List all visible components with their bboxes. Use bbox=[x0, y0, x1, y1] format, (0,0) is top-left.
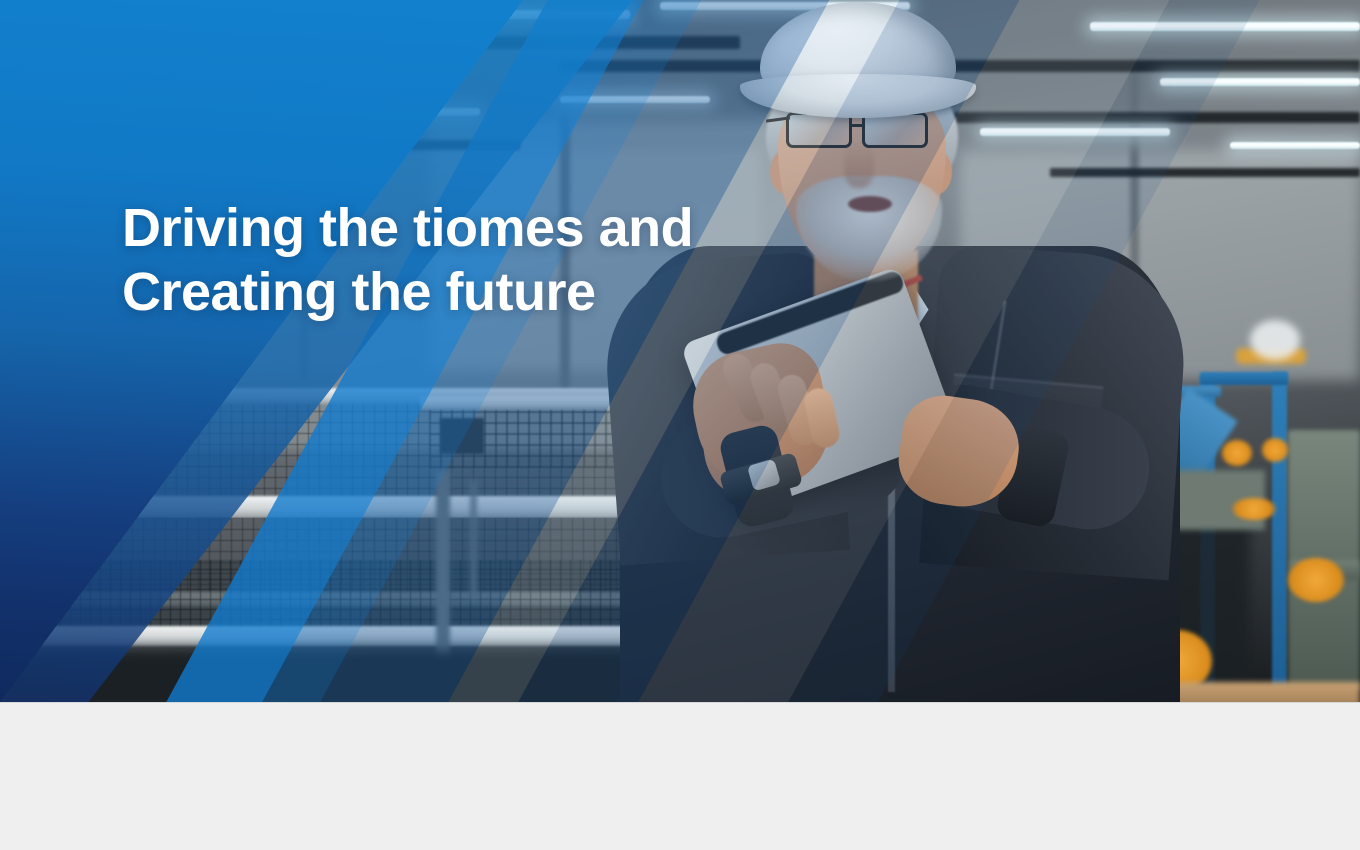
hero-banner-page: Driving the tiomes and Creating the futu… bbox=[0, 0, 1360, 850]
headline-line-1: Driving the tiomes and bbox=[122, 196, 842, 260]
hero-section: Driving the tiomes and Creating the futu… bbox=[0, 0, 1360, 702]
hero-headline: Driving the tiomes and Creating the futu… bbox=[122, 196, 842, 324]
footer-bar: Focus on product creation, intelligent p… bbox=[0, 702, 1360, 850]
headline-line-2: Creating the future bbox=[122, 260, 842, 324]
